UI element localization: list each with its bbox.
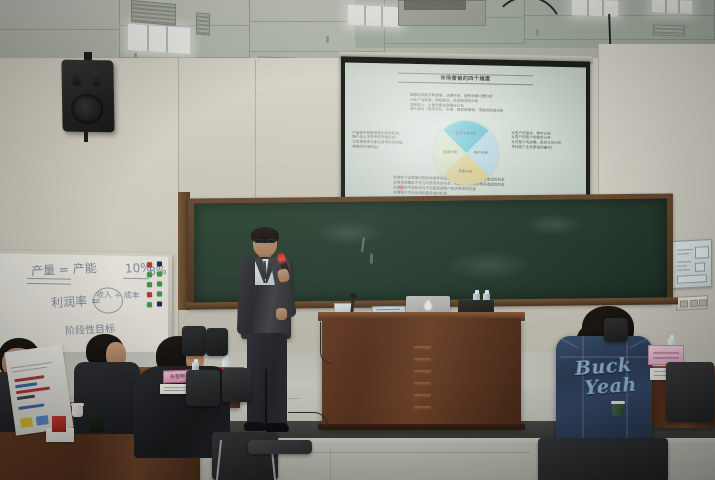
podium <box>322 318 521 428</box>
whiteboard-note-1: 产量 = 产能 <box>30 259 97 279</box>
ceiling-vent <box>653 24 685 36</box>
presenter-trousers <box>247 333 287 425</box>
chair[interactable] <box>666 362 714 422</box>
magnet-green[interactable] <box>157 271 162 276</box>
presenter-shoe-left <box>244 422 266 431</box>
chair[interactable] <box>206 328 228 356</box>
sprinkler-head <box>326 36 329 43</box>
ceiling-opening <box>404 0 466 10</box>
wall-seam <box>255 60 256 200</box>
slide-text-block-top: 国家宏观经济和政策、法律环境、居民消费习惯分析 行业产业政策、网络建设、信贷和补… <box>410 93 503 114</box>
ceiling-light <box>652 0 692 14</box>
podium-base <box>318 424 525 430</box>
slide-title: 市场营销的四个维度 <box>398 74 533 86</box>
magnet-green[interactable] <box>147 282 152 287</box>
ceiling-tile <box>250 22 385 52</box>
denim-jacket-text: Buck Yeah <box>555 355 654 401</box>
chair[interactable] <box>222 368 252 402</box>
cup[interactable] <box>612 402 624 416</box>
magnet-blue[interactable] <box>157 261 162 266</box>
presenter-left-arm <box>237 263 256 336</box>
chair[interactable] <box>604 318 628 342</box>
slide-text-block-right: 从客户的需求、集中分析 从客户的客户的需求分析 从匹配公司战略、投资计划分析 寻… <box>511 131 561 151</box>
sprinkler-head <box>536 29 539 36</box>
ceiling-vent <box>196 12 210 35</box>
denim-text-line-1: Buck <box>555 355 652 382</box>
slide-text-line: 寻找客户业务更强的痛点） <box>511 145 561 151</box>
wall-notice-board <box>672 239 712 289</box>
ceiling-light <box>572 0 618 17</box>
ceiling-vent <box>131 0 176 26</box>
presenter-leg-split <box>265 369 267 425</box>
whiteboard-note-5: 收入 ÷ 成本 <box>96 289 140 301</box>
coffee-cup[interactable] <box>72 404 83 417</box>
floor-cable <box>288 412 328 426</box>
magnet-red[interactable] <box>147 292 152 297</box>
chair[interactable] <box>538 438 668 480</box>
presenter-left-hand <box>276 308 287 320</box>
loudspeaker <box>61 60 114 133</box>
classroom-photo: 市场营销的四个维度 国家宏观经济和政策、法律环境、居民消费习惯分析 行业产业政策… <box>0 0 715 480</box>
slide-title-wrap: 市场营销的四个维度 <box>398 74 533 86</box>
magnet-red[interactable] <box>147 262 152 267</box>
pie-label-competition: 竞争分析 <box>459 169 473 174</box>
pie-label-self: 自身分析 <box>443 150 457 155</box>
chair-seat[interactable] <box>248 440 312 454</box>
presenter <box>236 229 298 434</box>
magnet-green[interactable] <box>157 281 162 286</box>
ceiling-light <box>128 24 190 54</box>
glasses-icon <box>255 239 276 243</box>
audience-body <box>74 362 140 434</box>
dark-item <box>90 414 104 432</box>
apple-logo-icon <box>425 302 432 310</box>
podium-cable <box>320 322 332 364</box>
pie-label-macro-environment: 宏观环境分析 <box>455 131 476 136</box>
slide-text-block-left: 产品技术创新带来的市场机会； 新产品上市带来的市场机会； 公司现有多元新业务带来… <box>352 130 402 150</box>
red-package <box>52 416 66 432</box>
pie-label-customer: 客户分析 <box>474 150 488 155</box>
ceiling-tile <box>0 0 120 30</box>
denim-jacket: Buck Yeah <box>556 336 652 448</box>
speaker-stem <box>84 130 88 142</box>
ceiling-light <box>348 5 400 28</box>
chair[interactable] <box>186 370 220 406</box>
wall-control-panel[interactable] <box>676 295 708 311</box>
magnet-green[interactable] <box>147 302 152 307</box>
magnet-blue[interactable] <box>157 301 162 306</box>
slide-text-line: 重大事件（政局变化、灾害、国家政策等）带来的机会分析 <box>410 107 503 114</box>
magnet-green[interactable] <box>147 272 152 277</box>
pie-chart: 宏观环境分析 客户分析 竞争分析 自身分析 <box>434 120 498 185</box>
denim-text-line-2: Yeah <box>568 375 653 401</box>
magnet-green[interactable] <box>157 291 162 296</box>
presenter-shoe-right <box>265 423 289 432</box>
chair[interactable] <box>182 326 206 356</box>
